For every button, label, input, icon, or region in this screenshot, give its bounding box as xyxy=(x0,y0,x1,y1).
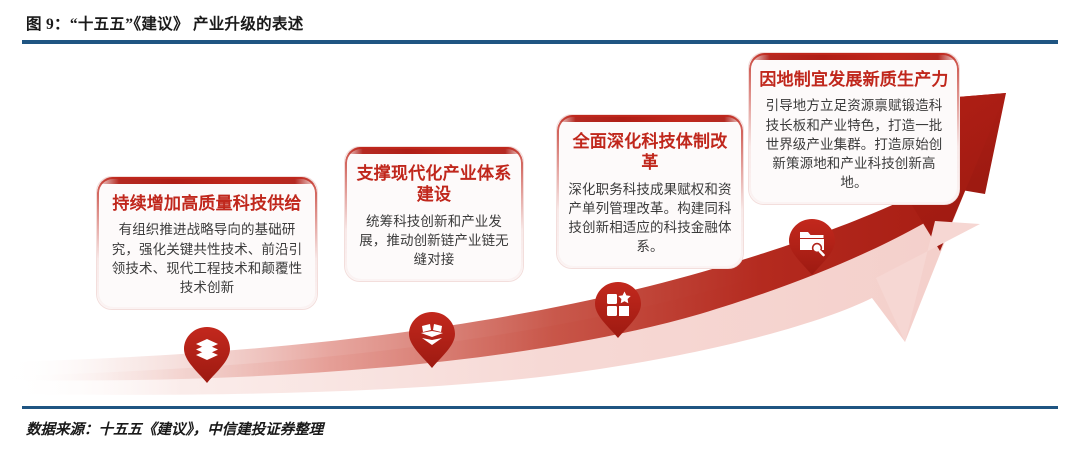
step-card-4[interactable]: 因地制宜发展新质生产力 引导地方立足资源禀赋锻造科技长板和产业特色，打造一批世界… xyxy=(748,52,960,205)
card-1-body: 有组织推进战略导向的基础研究，强化关键共性技术、前沿引领技术、现代工程技术和颠覆… xyxy=(107,220,307,297)
books-stack-icon[interactable] xyxy=(183,326,231,384)
card-3[interactable]: 全面深化科技体制改革 深化职务科技成果赋权和资产单列管理改革。构建同科技创新相适… xyxy=(556,114,744,269)
card-2-title: 支撑现代化产业体系建设 xyxy=(355,163,513,206)
puzzle-star-icon[interactable] xyxy=(594,281,642,339)
folder-search-icon[interactable] xyxy=(788,218,836,276)
card-2[interactable]: 支撑现代化产业体系建设 统筹科技创新和产业发展，推动创新链产业链无缝对接 xyxy=(344,146,524,282)
card-1-title: 持续增加高质量科技供给 xyxy=(107,193,307,214)
card-1[interactable]: 持续增加高质量科技供给 有组织推进战略导向的基础研究，强化关键共性技术、前沿引领… xyxy=(96,176,318,310)
card-2-body: 统筹科技创新和产业发展，推动创新链产业链无缝对接 xyxy=(355,212,513,269)
step-card-2[interactable]: 支撑现代化产业体系建设 统筹科技创新和产业发展，推动创新链产业链无缝对接 xyxy=(344,146,524,282)
source-note: 数据来源：十五五《建议》，中信建投证券整理 xyxy=(26,418,323,439)
card-3-body: 深化职务科技成果赋权和资产单列管理改革。构建同科技创新相适应的科技金融体系。 xyxy=(567,180,733,257)
card-3-title: 全面深化科技体制改革 xyxy=(567,131,733,174)
page-title: 图 9：“十五五”《建议》 产业升级的表述 xyxy=(26,12,304,34)
header-divider xyxy=(22,40,1058,44)
card-4-title: 因地制宜发展新质生产力 xyxy=(759,69,949,90)
footer-divider xyxy=(22,406,1058,409)
infographic-canvas: 持续增加高质量科技供给 有组织推进战略导向的基础研究，强化关键共性技术、前沿引领… xyxy=(0,46,1080,406)
open-box-icon[interactable] xyxy=(408,311,456,369)
step-card-3[interactable]: 全面深化科技体制改革 深化职务科技成果赋权和资产单列管理改革。构建同科技创新相适… xyxy=(556,114,744,269)
card-4[interactable]: 因地制宜发展新质生产力 引导地方立足资源禀赋锻造科技长板和产业特色，打造一批世界… xyxy=(748,52,960,205)
card-4-body: 引导地方立足资源禀赋锻造科技长板和产业特色，打造一批世界级产业集群。打造原始创新… xyxy=(759,96,949,192)
step-card-1[interactable]: 持续增加高质量科技供给 有组织推进战略导向的基础研究，强化关键共性技术、前沿引领… xyxy=(96,176,318,310)
figure-header: 图 9：“十五五”《建议》 产业升级的表述 xyxy=(0,0,1080,46)
